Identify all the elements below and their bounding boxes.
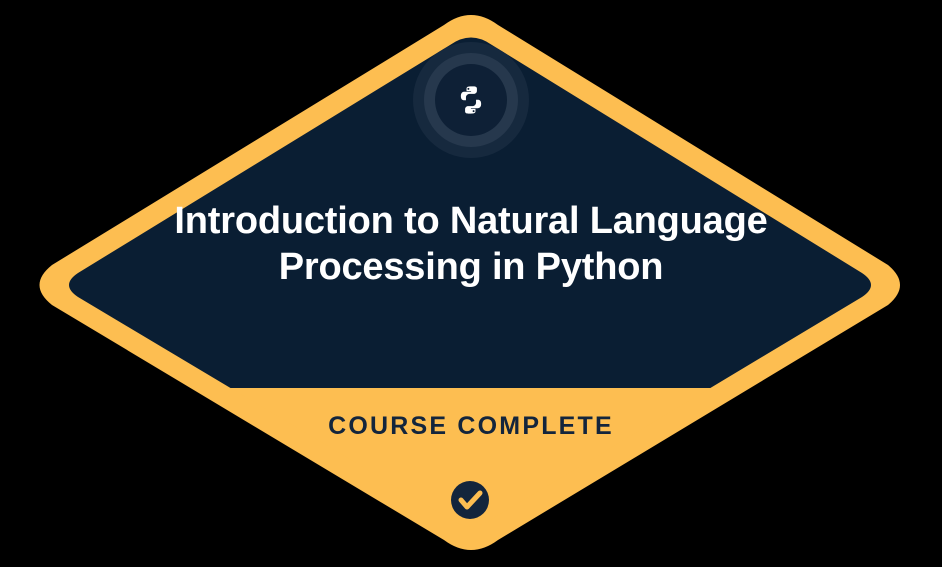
check-circle-icon	[451, 481, 489, 519]
course-completion-badge: Introduction to Natural Language Process…	[0, 0, 942, 567]
badge-graphic	[0, 0, 942, 567]
logo-halo	[413, 42, 529, 158]
